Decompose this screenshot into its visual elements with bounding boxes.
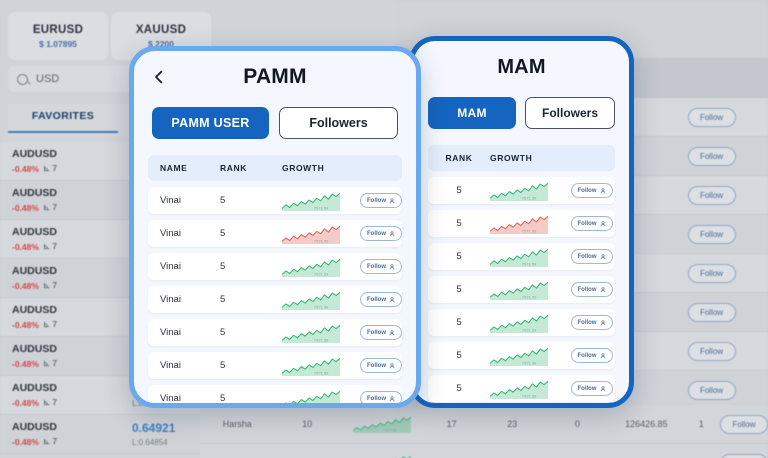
growth-sparkline: 7571.59 (282, 389, 360, 409)
row-rank: 5 (220, 294, 282, 305)
row-rank: 5 (220, 393, 282, 404)
growth-sparkline: 7571.59 (490, 313, 568, 333)
column-header-growth: GROWTH (282, 163, 360, 173)
quote-price: $ 1.07895 (39, 39, 77, 49)
table-row[interactable]: 57571.59Follow (428, 309, 615, 336)
follow-button[interactable]: Follow (571, 381, 613, 396)
row-rank: 5 (428, 317, 490, 328)
svg-text:7571.59: 7571.59 (314, 238, 329, 243)
svg-text:7571.59: 7571.59 (314, 337, 329, 342)
follow-button[interactable]: Follow (720, 454, 768, 458)
growth-sparkline: 7571.59 (282, 224, 360, 244)
mam-panel: MAM MAM Followers RANK GROWTH 57571.59Fo… (409, 36, 634, 408)
background-tab[interactable]: FAVORITES (8, 110, 118, 133)
column-header-rank: RANK (220, 163, 282, 173)
background-bottom-rows: Harsha107571.5917230126426.851FollowHars… (200, 405, 768, 458)
svg-text:7571.59: 7571.59 (314, 205, 329, 210)
table-row[interactable]: Vinai57571.59Follow (148, 286, 402, 313)
pamm-panel: PAMM PAMM USER Followers NAME RANK GROWT… (129, 46, 421, 408)
growth-sparkline: 7571.59 (490, 214, 568, 234)
tab-mam-followers[interactable]: Followers (525, 97, 615, 129)
column-header-growth: GROWTH (490, 153, 568, 163)
follow-button[interactable]: Follow (571, 183, 613, 198)
row-rank: 5 (428, 185, 490, 196)
svg-text:7571.59: 7571.59 (522, 294, 537, 299)
growth-sparkline: 7571.59 (282, 356, 360, 376)
follow-button[interactable]: Follow (360, 325, 402, 340)
pamm-tabs[interactable]: PAMM USER Followers (134, 107, 416, 139)
follow-button[interactable]: Follow (571, 282, 613, 297)
table-row[interactable]: Vinai57571.59Follow (148, 385, 402, 408)
svg-text:7571.59: 7571.59 (385, 429, 397, 433)
follow-button[interactable]: Follow (688, 381, 736, 400)
column-header-name: NAME (148, 163, 220, 173)
pamm-table-body: Vinai57571.59FollowVinai57571.59FollowVi… (148, 187, 402, 408)
table-row[interactable]: Vinai57571.59Follow (148, 319, 402, 346)
mam-table-header: RANK GROWTH (428, 145, 615, 171)
growth-sparkline: 7571.59 (490, 379, 568, 399)
row-rank: 5 (428, 383, 490, 394)
follow-button[interactable]: Follow (360, 193, 402, 208)
growth-sparkline: 7571.59 (490, 346, 568, 366)
quote-symbol: EURUSD (33, 24, 83, 36)
table-row[interactable]: 57571.59Follow (428, 276, 615, 303)
svg-text:7571.59: 7571.59 (314, 304, 329, 309)
table-row[interactable]: Harsha107571.5917230126426.851Follow (200, 444, 768, 458)
follow-button[interactable]: Follow (688, 264, 736, 283)
table-row[interactable]: 57571.59Follow (428, 177, 615, 204)
follow-button[interactable]: Follow (571, 315, 613, 330)
row-name: Vinai (148, 327, 220, 338)
svg-text:7571.59: 7571.59 (522, 327, 537, 332)
follow-button[interactable]: Follow (688, 225, 736, 244)
mam-panel-header: MAM (414, 41, 629, 93)
row-rank: 5 (428, 251, 490, 262)
follow-button[interactable]: Follow (571, 216, 613, 231)
table-row[interactable]: Vinai57571.59Follow (148, 220, 402, 247)
tab-pamm-followers[interactable]: Followers (279, 107, 398, 139)
tab-pamm-user[interactable]: PAMM USER (152, 107, 269, 139)
table-row[interactable]: 57571.59Follow (428, 342, 615, 369)
row-rank: 5 (220, 360, 282, 371)
follow-button[interactable]: Follow (360, 292, 402, 307)
svg-text:7571.59: 7571.59 (314, 403, 329, 408)
row-name: Vinai (148, 195, 220, 206)
svg-text:7571.59: 7571.59 (522, 360, 537, 365)
table-row[interactable]: Vinai57571.59Follow (148, 187, 402, 214)
svg-text:7571.59: 7571.59 (314, 271, 329, 276)
table-row[interactable]: Harsha107571.5917230126426.851Follow (200, 405, 768, 444)
svg-text:7571.59: 7571.59 (314, 370, 329, 375)
follow-button[interactable]: Follow (360, 391, 402, 406)
follow-button[interactable]: Follow (688, 147, 736, 166)
pamm-panel-title: PAMM (243, 65, 306, 89)
follow-button[interactable]: Follow (688, 342, 736, 361)
row-name: Vinai (148, 294, 220, 305)
growth-sparkline: 7571.59 (282, 191, 360, 211)
table-row[interactable]: Vinai57571.59Follow (148, 253, 402, 280)
table-row[interactable]: 57571.59Follow (428, 210, 615, 237)
follow-button[interactable]: Follow (688, 186, 736, 205)
row-name: Vinai (148, 393, 220, 404)
row-rank: 5 (428, 284, 490, 295)
follow-button[interactable]: Follow (571, 249, 613, 264)
row-rank: 5 (220, 228, 282, 239)
column-header-rank: RANK (428, 153, 490, 163)
table-row[interactable]: 57571.59Follow (428, 243, 615, 270)
search-icon (17, 74, 28, 85)
growth-sparkline: 7571.59 (490, 247, 568, 267)
growth-sparkline: 7571.59 (282, 290, 360, 310)
table-row[interactable]: 57571.59Follow (428, 375, 615, 402)
back-chevron-icon[interactable] (152, 70, 166, 84)
quote-symbol: XAUUSD (136, 24, 186, 36)
row-rank: 5 (220, 261, 282, 272)
row-rank: 5 (220, 195, 282, 206)
follow-button[interactable]: Follow (720, 415, 768, 434)
svg-text:7571.59: 7571.59 (522, 228, 537, 233)
pamm-panel-header: PAMM (134, 51, 416, 103)
growth-sparkline: 7571.59 (490, 181, 568, 201)
follow-button[interactable]: Follow (360, 358, 402, 373)
follow-button[interactable]: Follow (571, 348, 613, 363)
follow-button[interactable]: Follow (360, 259, 402, 274)
row-rank: 5 (428, 218, 490, 229)
mam-panel-title: MAM (497, 56, 545, 79)
row-rank: 5 (428, 350, 490, 361)
svg-text:7571.59: 7571.59 (522, 393, 537, 398)
follow-button[interactable]: Follow (360, 226, 402, 241)
pamm-table-header: NAME RANK GROWTH (148, 155, 402, 181)
table-row[interactable]: Vinai57571.59Follow (148, 352, 402, 379)
row-name: Vinai (148, 360, 220, 371)
growth-sparkline: 7571.59 (282, 323, 360, 343)
svg-text:7571.59: 7571.59 (522, 261, 537, 266)
quote-card[interactable]: EURUSD$ 1.07895 (8, 12, 108, 60)
row-name: Vinai (148, 261, 220, 272)
app-screen: EURUSD$ 1.07895XAUUSD$ 2200 USD FAVORITE… (0, 0, 768, 458)
growth-sparkline: 7571.59 (490, 280, 568, 300)
tab-mam[interactable]: MAM (428, 97, 516, 129)
search-value: USD (36, 73, 59, 85)
mam-table-body: 57571.59Follow57571.59Follow57571.59Foll… (428, 177, 615, 402)
row-name: Vinai (148, 228, 220, 239)
follow-button[interactable]: Follow (688, 303, 736, 322)
row-rank: 5 (220, 327, 282, 338)
mam-tabs[interactable]: MAM Followers (414, 97, 629, 129)
growth-sparkline: 7571.59 (282, 257, 360, 277)
svg-text:7571.59: 7571.59 (522, 195, 537, 200)
follow-button[interactable]: Follow (688, 108, 736, 127)
